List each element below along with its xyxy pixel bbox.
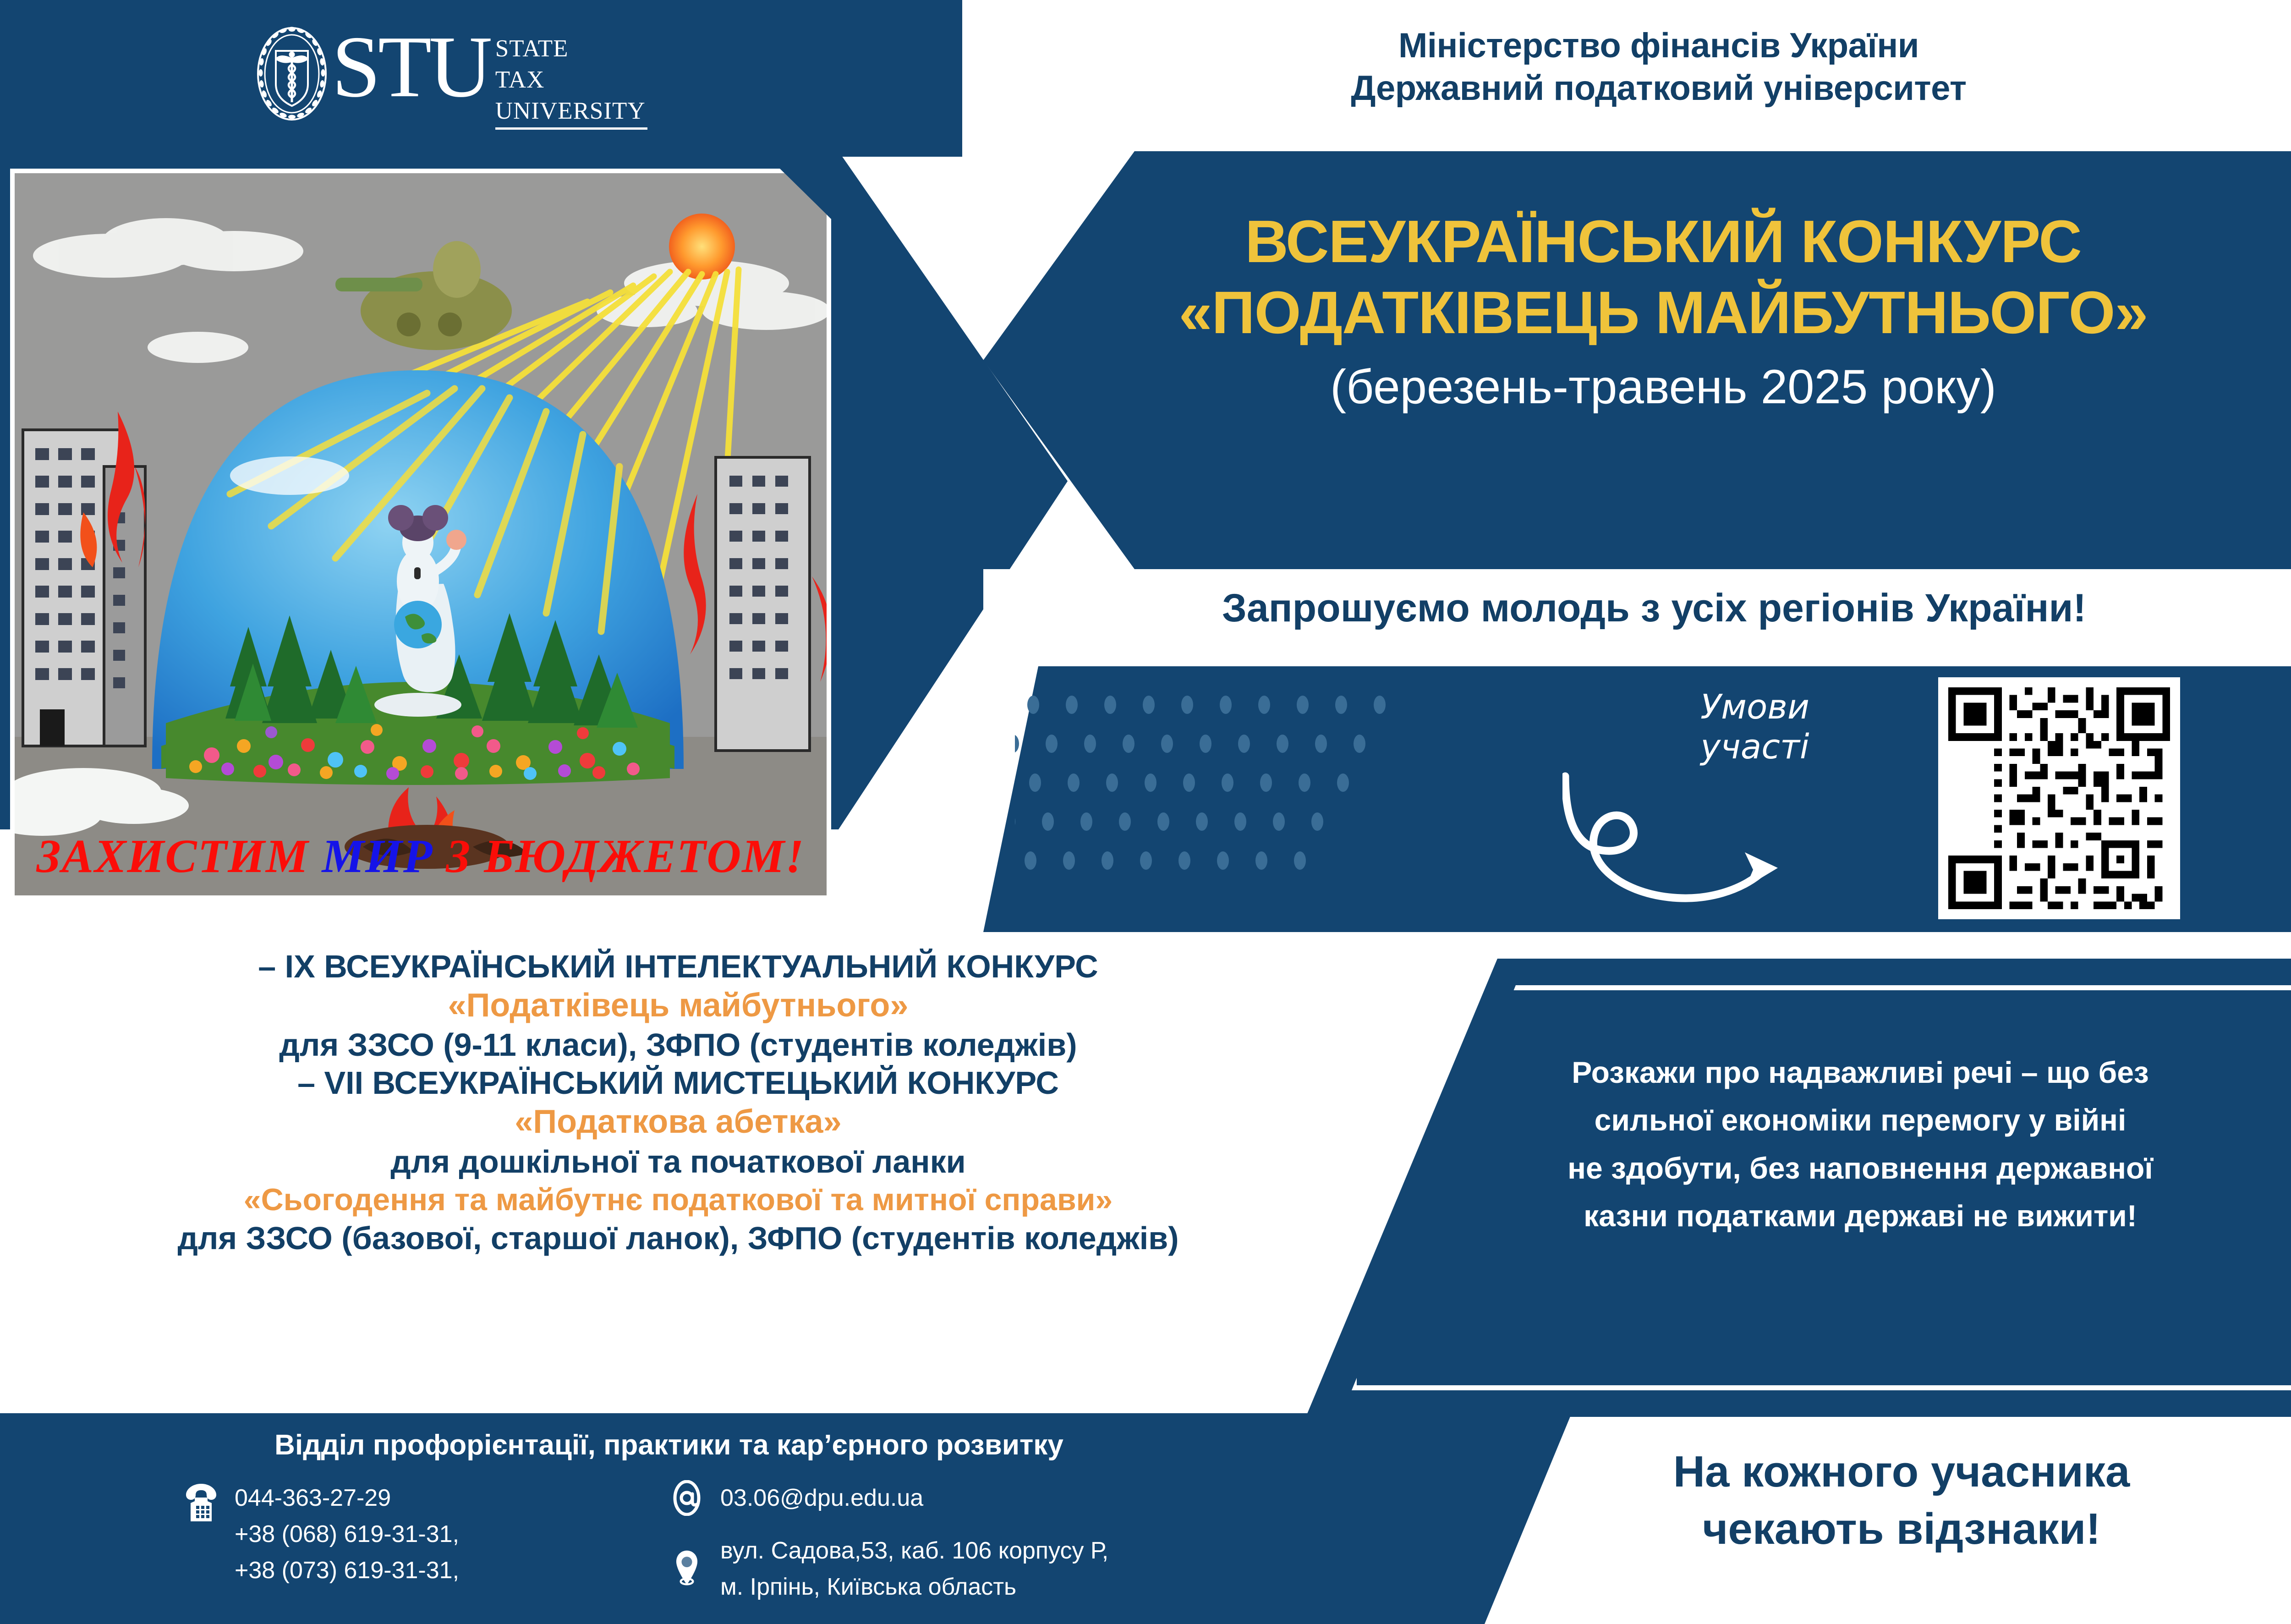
address-line-1: вул. Садова,53, каб. 106 корпусу Р,	[720, 1533, 1108, 1569]
email-address-group: 03.06@dpu.edu.ua вул. Садова,53, каб. 10…	[669, 1480, 1108, 1605]
message-text: Розкажи про надважливі речі – що без сил…	[1494, 1048, 2227, 1240]
phone-contact-group: 044-363-27-29 +38 (068) 619-31-31, +38 (…	[183, 1480, 669, 1605]
qr-code-icon[interactable]	[1938, 677, 2180, 919]
contest-audience-1: для ЗЗСО (9-11 класи), ЗФПО (студентів к…	[55, 1026, 1301, 1064]
phone-3[interactable]: +38 (073) 619-31-31,	[235, 1553, 459, 1589]
phone-1[interactable]: 044-363-27-29	[235, 1480, 459, 1516]
artwork-caption-part-1: ЗАХИСТИМ	[37, 830, 322, 883]
qr-label: Умови участі	[1645, 687, 1865, 768]
logo-word-university: UNIVERSITY	[495, 96, 646, 127]
ministry-line-2: Державний податковий університет	[1063, 67, 2254, 110]
title-dates: (березень-травень 2025 року)	[1049, 356, 2277, 419]
contacts-block: 044-363-27-29 +38 (068) 619-31-31, +38 (…	[183, 1480, 1108, 1605]
artwork-caption-part-2: МИР	[322, 830, 433, 883]
artwork-caption: ЗАХИСТИМ МИР З БЮДЖЕТОМ!	[15, 829, 827, 883]
map-pin-icon	[669, 1550, 705, 1586]
at-sign-icon	[669, 1480, 705, 1516]
artwork-caption-part-3: З БЮДЖЕТОМ!	[433, 830, 805, 883]
artwork-image: ЗАХИСТИМ МИР З БЮДЖЕТОМ!	[15, 173, 827, 895]
contest-title-2: «Податкова абетка»	[55, 1102, 1301, 1142]
contest-heading-2: – VII ВСЕУКРАЇНСЬКИЙ МИСТЕЦЬКИЙ КОНКУРС	[55, 1064, 1301, 1102]
contest-audience-3: для ЗЗСО (базової, старшої ланок), ЗФПО …	[55, 1219, 1301, 1257]
logo-word-tax: TAX	[495, 65, 646, 96]
qr-label-line-1: Умови	[1645, 687, 1865, 727]
contest-audience-2: для дошкільної та початкової ланки	[55, 1142, 1301, 1181]
contest-heading-1: – IX ВСЕУКРАЇНСЬКИЙ ІНТЕЛЕКТУАЛЬНИЙ КОНК…	[55, 948, 1301, 986]
phone-2[interactable]: +38 (068) 619-31-31,	[235, 1516, 459, 1553]
email-address[interactable]: 03.06@dpu.edu.ua	[720, 1480, 1108, 1516]
curved-arrow-icon	[1562, 770, 1828, 921]
message-line-3: не здобути, без наповнення державної	[1494, 1144, 2227, 1192]
ministry-heading: Міністерство фінансів України Державний …	[1063, 25, 2254, 110]
qr-label-line-2: участі	[1645, 727, 1865, 767]
message-line-1: Розкажи про надважливі речі – що без	[1494, 1048, 2227, 1096]
message-line-2: сильної економіки перемогу у війні	[1494, 1096, 2227, 1144]
stu-abbreviation: STU	[332, 25, 490, 109]
contest-list: – IX ВСЕУКРАЇНСЬКИЙ ІНТЕЛЕКТУАЛЬНИЙ КОНК…	[55, 948, 1301, 1257]
awards-slogan: На кожного учасника чекають відзнаки!	[1526, 1443, 2277, 1558]
main-title: ВСЕУКРАЇНСЬКИЙ КОНКУРС «ПОДАТКІВЕЦЬ МАЙБ…	[1049, 206, 2277, 419]
stu-logo: STU STATE TAX UNIVERSITY	[254, 25, 647, 130]
artwork-frame: ЗАХИСТИМ МИР З БЮДЖЕТОМ!	[10, 169, 831, 900]
decorative-dot-pattern	[1015, 691, 1533, 883]
stu-crest-icon	[254, 25, 330, 122]
title-line-2: «ПОДАТКІВЕЦЬ МАЙБУТНЬОГО»	[1049, 277, 2277, 348]
telephone-icon	[183, 1480, 219, 1521]
message-line-4: казни податками державі не вижити!	[1494, 1192, 2227, 1240]
address-line-2: м. Ірпінь, Київська область	[720, 1569, 1108, 1605]
contest-title-1: «Податківець майбутнього»	[55, 986, 1301, 1026]
email-address-lines: 03.06@dpu.edu.ua вул. Садова,53, каб. 10…	[720, 1480, 1108, 1605]
poster-canvas: Міністерство фінансів України Державний …	[0, 0, 2291, 1624]
contest-title-3: «Сьогодення та майбутнє податкової та ми…	[55, 1181, 1301, 1219]
logo-word-state: STATE	[495, 33, 646, 65]
slogan-line-2: чекають відзнаки!	[1526, 1501, 2277, 1558]
slogan-line-1: На кожного учасника	[1526, 1443, 2277, 1501]
department-title: Відділ профорієнтації, практики та кар’є…	[55, 1429, 1283, 1461]
stu-wordmark: STATE TAX UNIVERSITY	[495, 33, 647, 130]
invite-text: Запрошуємо молодь з усіх регіонів Україн…	[1036, 586, 2273, 631]
title-line-1: ВСЕУКРАЇНСЬКИЙ КОНКУРС	[1049, 206, 2277, 277]
contact-icons	[669, 1480, 705, 1586]
ministry-line-1: Міністерство фінансів України	[1063, 25, 2254, 67]
phone-numbers: 044-363-27-29 +38 (068) 619-31-31, +38 (…	[235, 1480, 459, 1589]
